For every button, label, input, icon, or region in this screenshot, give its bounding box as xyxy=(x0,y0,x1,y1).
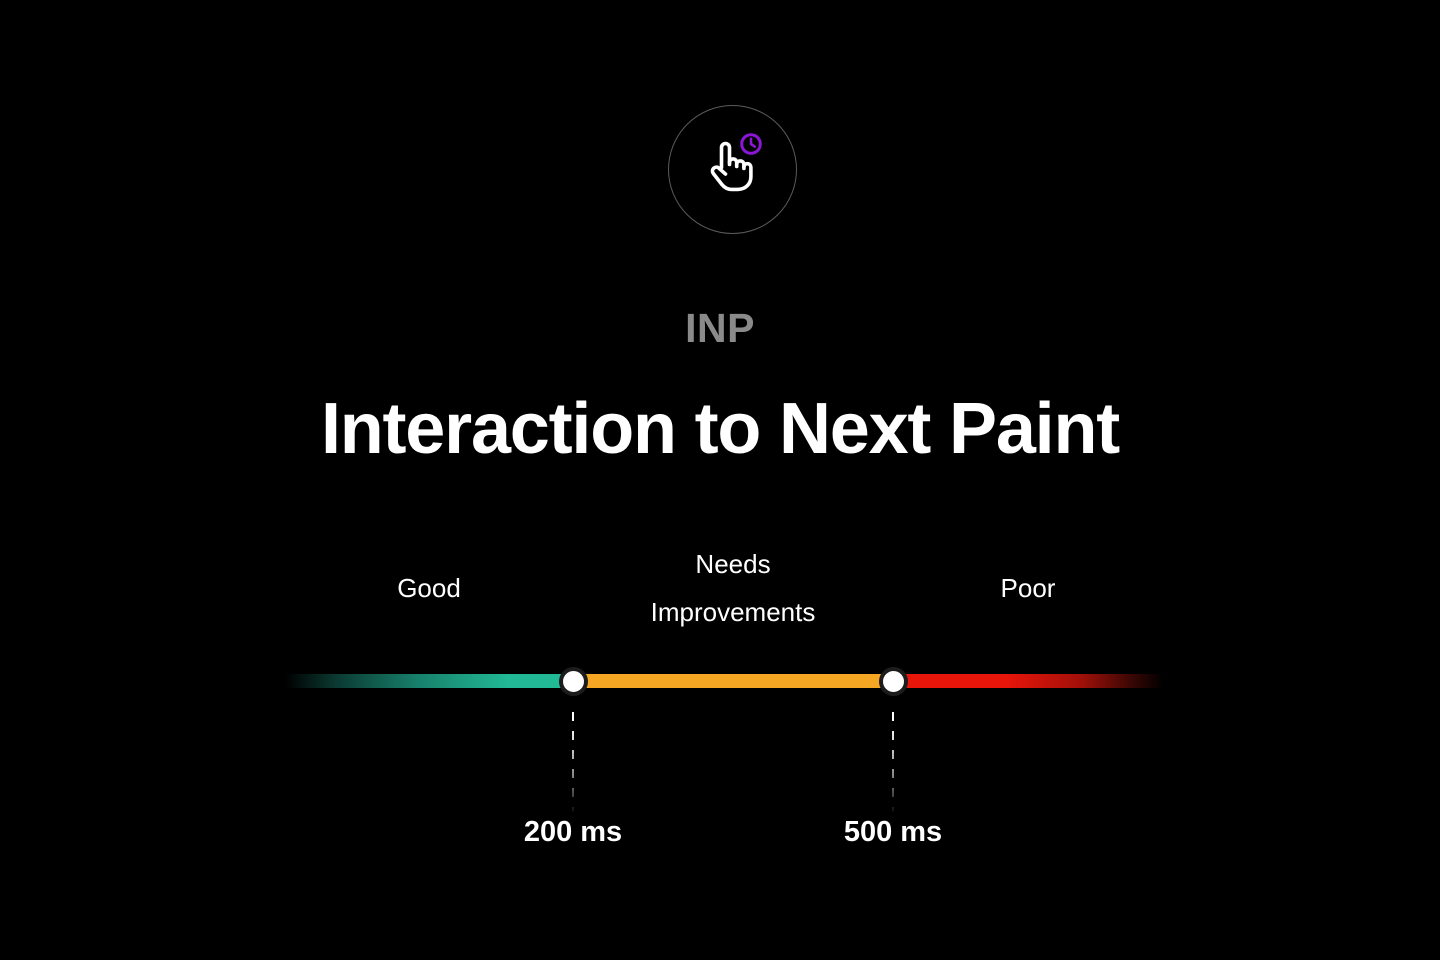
track-segment-good xyxy=(285,674,573,688)
track-segment-poor xyxy=(893,674,1163,688)
track-segment-needs-improvements xyxy=(573,674,893,688)
dropline-500ms xyxy=(892,712,894,812)
page-root: INP Interaction to Next Paint Good Needs… xyxy=(0,0,1440,960)
pointer-hand-clock-icon xyxy=(699,131,767,199)
threshold-scale: Good Needs Improvements Poor 200 ms 500 … xyxy=(285,540,1163,860)
threshold-knob-200ms[interactable] xyxy=(559,667,588,696)
zone-label-poor: Poor xyxy=(893,564,1163,612)
zone-label-needs-improvements: Needs Improvements xyxy=(573,540,893,636)
threshold-knob-500ms[interactable] xyxy=(879,667,908,696)
page-title: Interaction to Next Paint xyxy=(0,385,1440,473)
zone-label-group: Good Needs Improvements Poor xyxy=(285,540,1163,650)
threshold-value-500ms: 500 ms xyxy=(743,812,1043,852)
threshold-value-200ms: 200 ms xyxy=(423,812,723,852)
zone-label-good: Good xyxy=(285,564,573,612)
scale-track xyxy=(285,674,1163,688)
dropline-200ms xyxy=(572,712,574,812)
metric-abbreviation: INP xyxy=(0,301,1440,355)
